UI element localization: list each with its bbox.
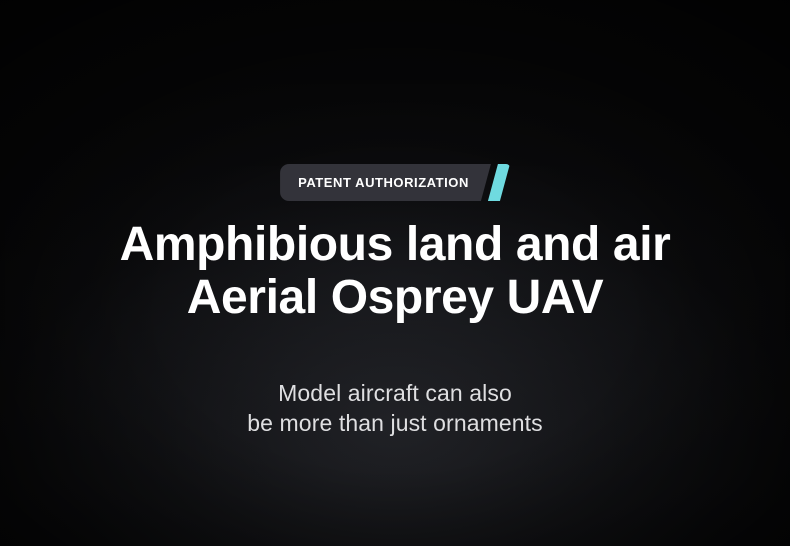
banner-content: PATENT AUTHORIZATION Amphibious land and… xyxy=(0,0,790,546)
page-title: Amphibious land and air Aerial Osprey UA… xyxy=(120,218,671,324)
subtitle-line-2: be more than just ornaments xyxy=(247,408,542,438)
badge-plate: PATENT AUTHORIZATION xyxy=(280,164,491,201)
subtitle-line-1: Model aircraft can also xyxy=(247,378,542,408)
promo-banner: PATENT AUTHORIZATION Amphibious land and… xyxy=(0,0,790,546)
patent-authorization-badge: PATENT AUTHORIZATION xyxy=(280,164,510,201)
headline-line-2: Aerial Osprey UAV xyxy=(120,271,671,324)
page-subtitle: Model aircraft can also be more than jus… xyxy=(247,378,542,438)
badge-accent-shape xyxy=(488,164,510,201)
badge-label: PATENT AUTHORIZATION xyxy=(298,176,469,189)
headline-line-1: Amphibious land and air xyxy=(120,218,671,271)
